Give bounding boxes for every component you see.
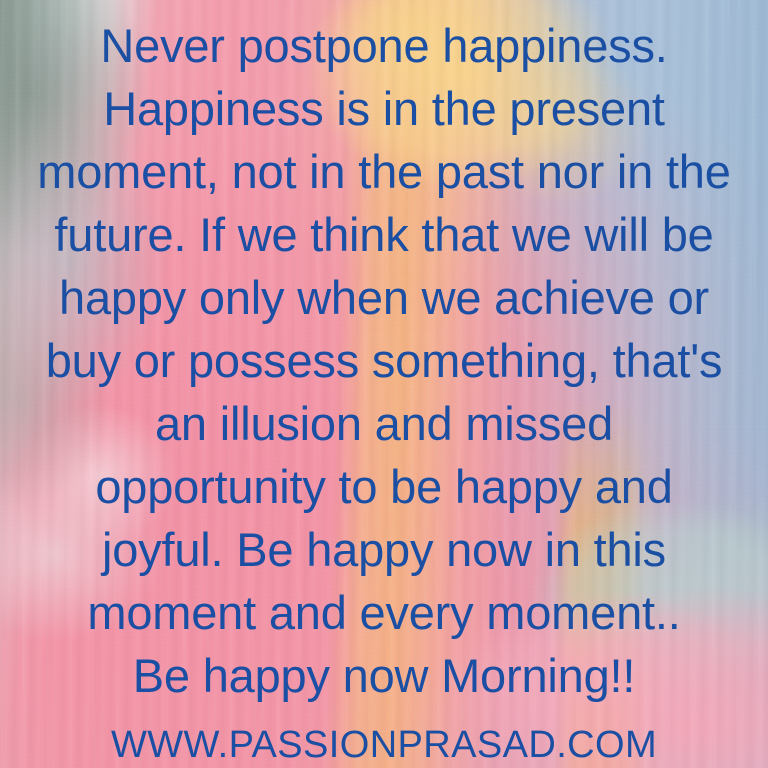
quote-card: Never postpone happiness. Happiness is i… xyxy=(0,0,768,768)
website-credit: WWW.PASSIONPRASAD.COM xyxy=(20,723,748,767)
card-content: Never postpone happiness. Happiness is i… xyxy=(0,0,768,768)
quote-text: Never postpone happiness. Happiness is i… xyxy=(20,14,748,707)
